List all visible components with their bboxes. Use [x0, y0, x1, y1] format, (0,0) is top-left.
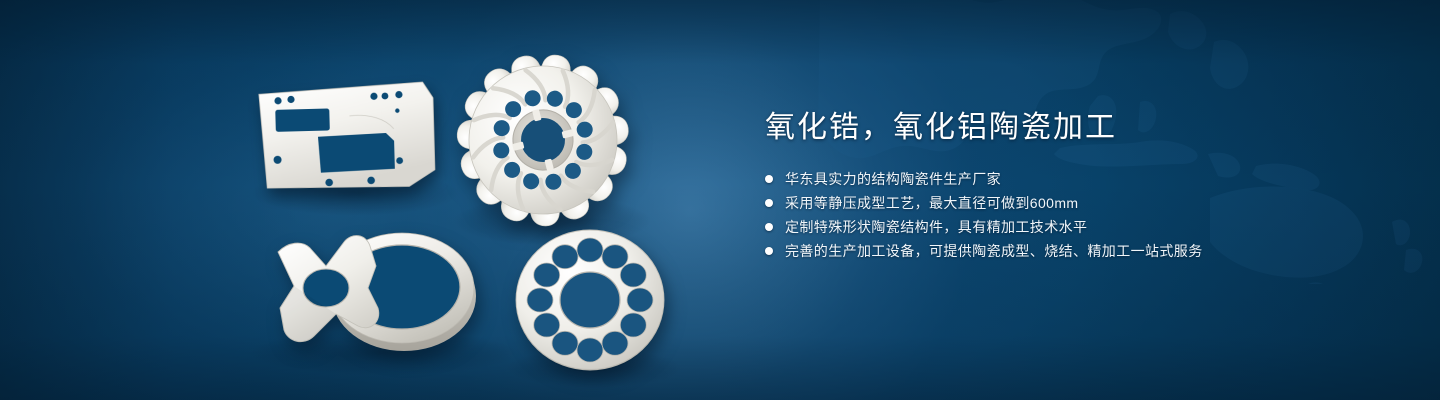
- list-item: 采用等静压成型工艺，最大直径可做到600mm: [765, 191, 1385, 215]
- hero-banner: 氧化锆，氧化铝陶瓷加工 华东具实力的结构陶瓷件生产厂家 采用等静压成型工艺，最大…: [0, 0, 1440, 400]
- page-title: 氧化锆，氧化铝陶瓷加工: [765, 108, 1385, 148]
- feature-text: 定制特殊形状陶瓷结构件，具有精加工技术水平: [785, 215, 1087, 239]
- ceramic-cross-plate-and-rings: [252, 222, 512, 362]
- feature-text: 华东具实力的结构陶瓷件生产厂家: [785, 167, 1001, 191]
- ceramic-perforated-disc: [512, 228, 668, 372]
- list-item: 完善的生产加工设备，可提供陶瓷成型、烧结、精加工一站式服务: [765, 239, 1385, 263]
- list-item: 定制特殊形状陶瓷结构件，具有精加工技术水平: [765, 215, 1385, 239]
- bullet-dot-icon: [765, 199, 773, 207]
- ceramic-machined-plate: [257, 80, 438, 195]
- ceramic-impeller: [448, 48, 638, 233]
- banner-copy: 氧化锆，氧化铝陶瓷加工 华东具实力的结构陶瓷件生产厂家 采用等静压成型工艺，最大…: [765, 108, 1385, 263]
- feature-text: 采用等静压成型工艺，最大直径可做到600mm: [785, 191, 1078, 215]
- bullet-dot-icon: [765, 223, 773, 231]
- product-image-cluster: [0, 0, 720, 400]
- feature-text: 完善的生产加工设备，可提供陶瓷成型、烧结、精加工一站式服务: [785, 239, 1203, 263]
- bullet-dot-icon: [765, 247, 773, 255]
- feature-list: 华东具实力的结构陶瓷件生产厂家 采用等静压成型工艺，最大直径可做到600mm 定…: [765, 167, 1385, 263]
- list-item: 华东具实力的结构陶瓷件生产厂家: [765, 167, 1385, 191]
- bullet-dot-icon: [765, 175, 773, 183]
